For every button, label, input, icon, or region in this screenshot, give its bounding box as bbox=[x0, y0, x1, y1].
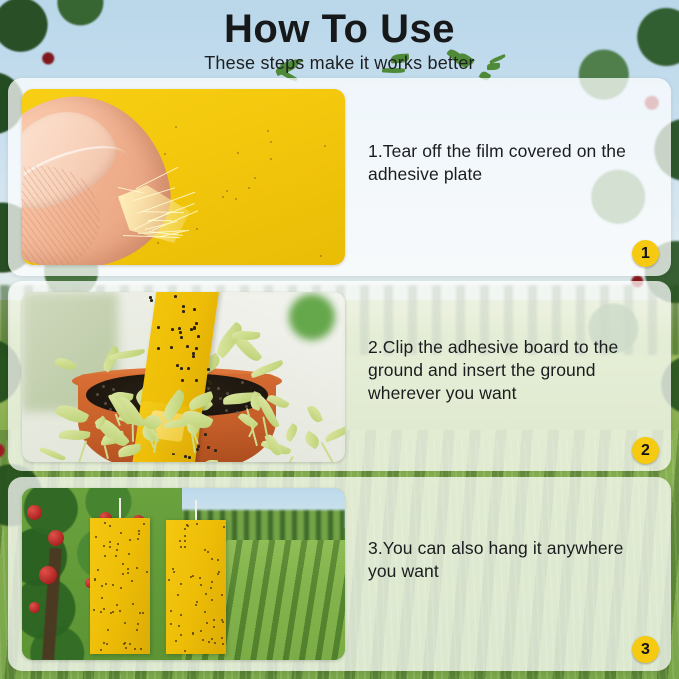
photo-thumb-peeling-film bbox=[22, 89, 345, 265]
header: How To Use These steps make it works bet… bbox=[0, 0, 679, 78]
step-1-photo bbox=[22, 89, 345, 265]
step-2-badge: 2 bbox=[632, 437, 659, 464]
step-1-badge: 1 bbox=[632, 240, 659, 267]
sticky-trap-left bbox=[90, 518, 150, 654]
photo-orchard-hanging-traps bbox=[22, 488, 345, 660]
page-subtitle: These steps make it works better bbox=[0, 50, 679, 74]
step-2-text: 2.Clip the adhesive board to the ground … bbox=[368, 336, 643, 405]
sticky-trap-right bbox=[166, 520, 226, 654]
step-card-1: 1.Tear off the film covered on the adhes… bbox=[8, 78, 671, 276]
how-to-use-infographic: How To Use These steps make it works bet… bbox=[0, 0, 679, 679]
page-title: How To Use bbox=[0, 0, 679, 50]
step-card-3: 3.You can also hang it anywhere you want… bbox=[8, 477, 671, 671]
step-card-2: 2.Clip the adhesive board to the ground … bbox=[8, 281, 671, 471]
step-1-text: 1.Tear off the film covered on the adhes… bbox=[368, 140, 643, 186]
step-3-photo bbox=[22, 488, 345, 660]
photo-potted-plant-with-stake bbox=[22, 292, 345, 462]
step-2-photo bbox=[22, 292, 345, 462]
background-green-blur bbox=[289, 294, 335, 340]
step-3-text: 3.You can also hang it anywhere you want bbox=[368, 537, 643, 583]
step-3-badge: 3 bbox=[632, 636, 659, 663]
